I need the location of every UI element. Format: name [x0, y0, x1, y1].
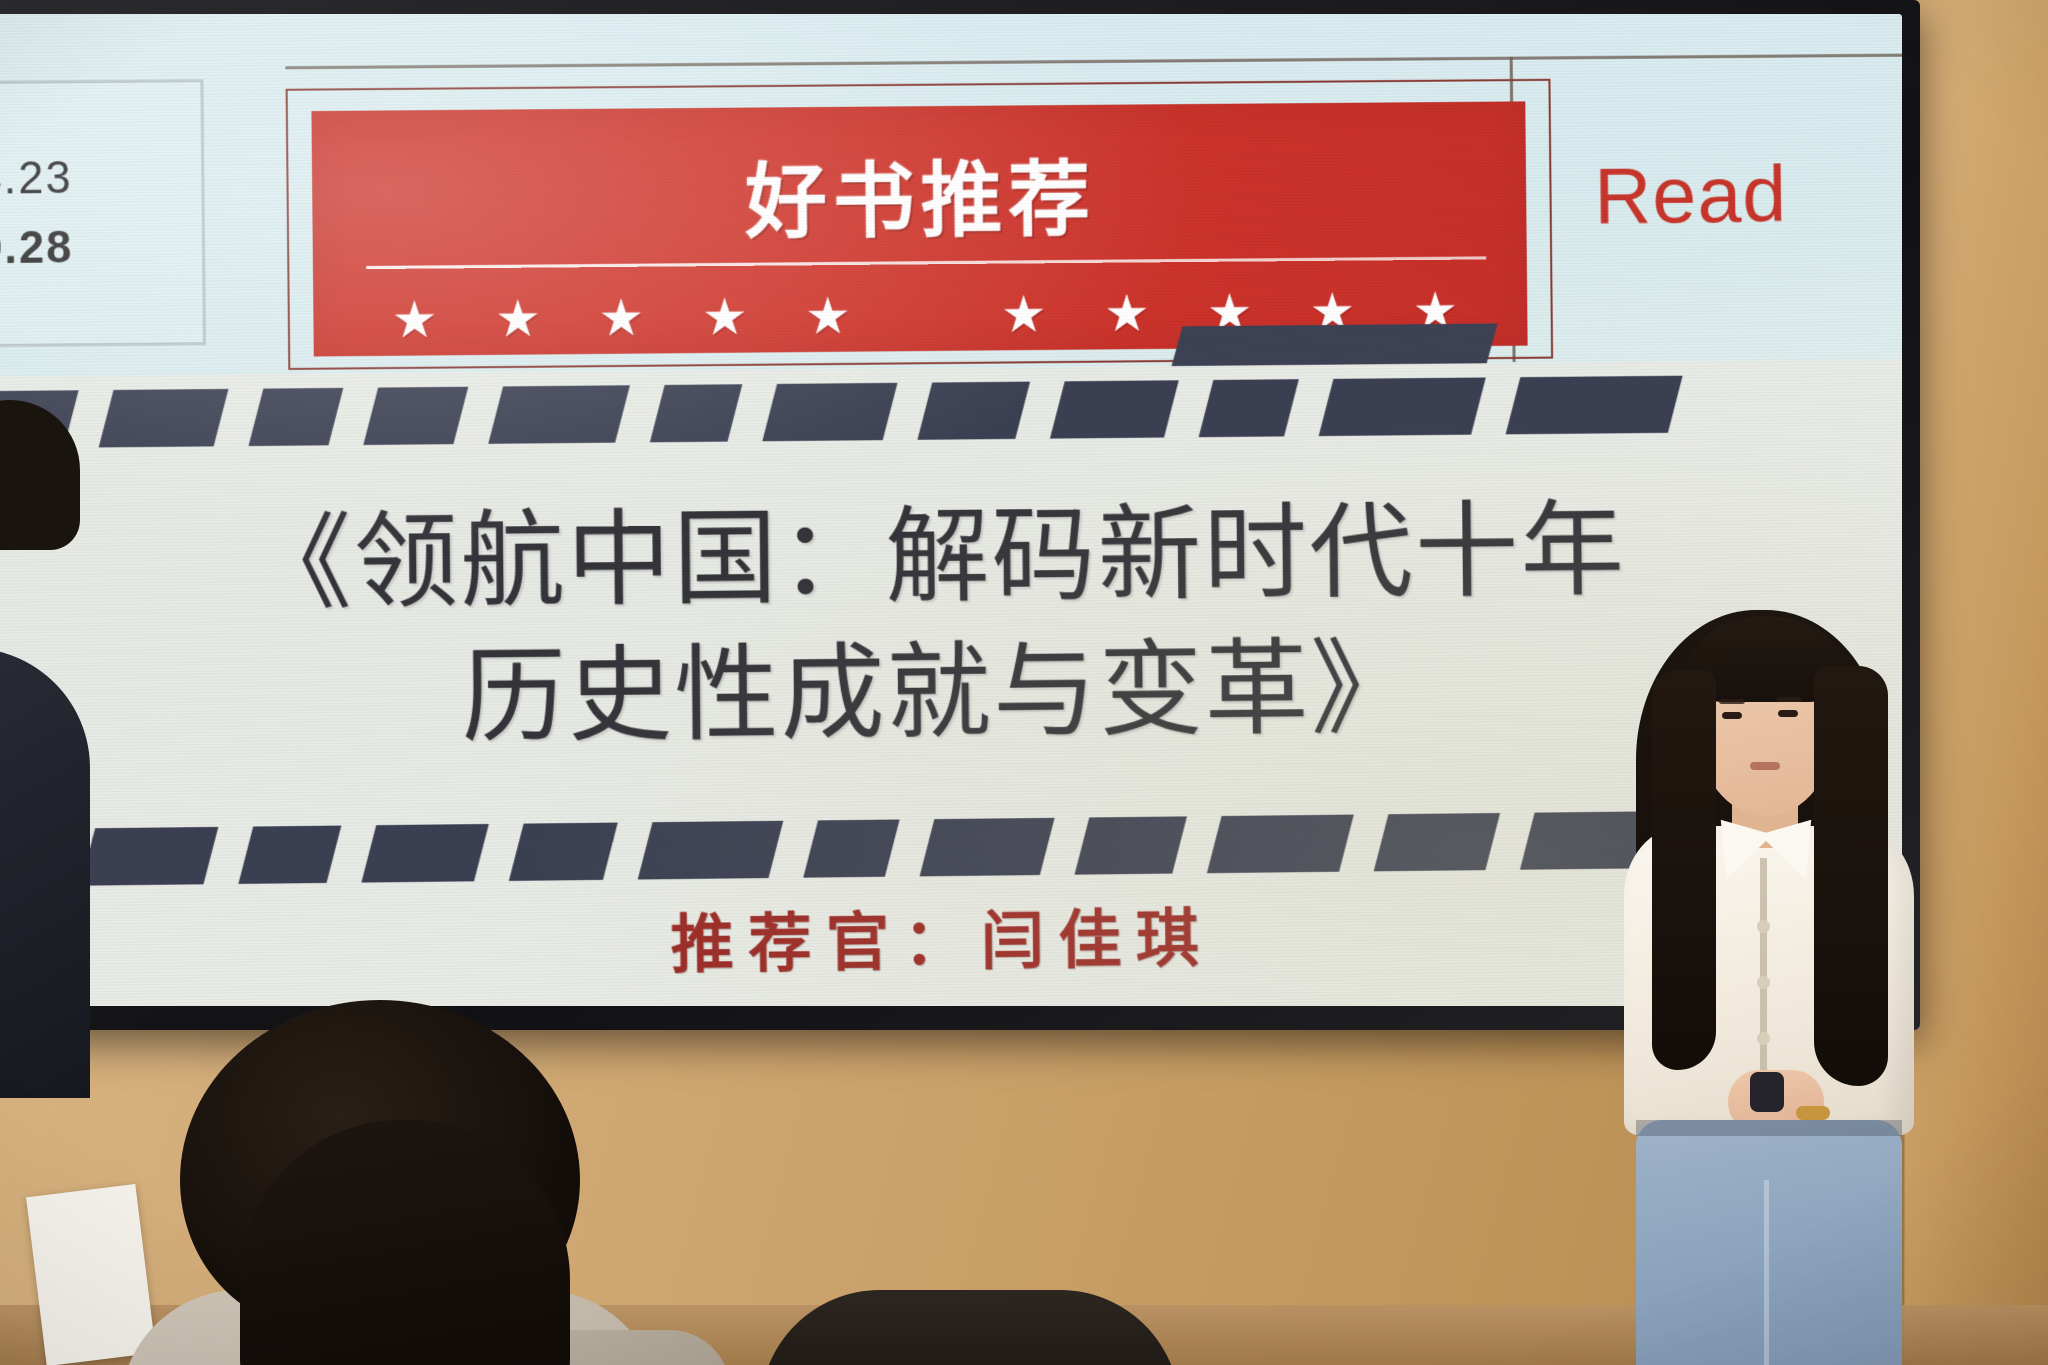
presenter-shirt-button — [1757, 920, 1770, 933]
book-title-line-2: 历史性成就与变革》 — [14, 617, 1859, 771]
clapper-tooth — [650, 384, 742, 442]
clapper-tooth — [1319, 378, 1486, 437]
presenter-mouth — [1750, 762, 1780, 770]
clapper-tooth — [1506, 376, 1683, 435]
presenter-bracelet — [1796, 1106, 1830, 1120]
audience-left-hair — [0, 400, 80, 550]
clapper-strip-top — [0, 374, 1902, 449]
star-icon: ★ — [1075, 288, 1178, 340]
header-accent-bar — [1171, 323, 1497, 367]
clapper-tooth — [238, 826, 341, 884]
clapper-tooth — [363, 387, 468, 445]
red-banner: 好书推荐 ★ ★ ★ ★ ★ ★ ★ ★ ★ — [311, 101, 1527, 356]
clapper-tooth — [1050, 380, 1179, 438]
presenter-clicker — [1750, 1072, 1784, 1112]
star-icon: ★ — [569, 292, 673, 344]
book-title: 《领航中国：解码新时代十年 历史性成就与变革》 — [12, 482, 1859, 771]
clapper-tooth — [638, 821, 784, 880]
clapper-tooth — [361, 824, 488, 883]
banner-underline — [366, 256, 1486, 269]
screenshot-scene: 书日：4.23 书日：9.28 好书推荐 ★ ★ ★ ★ ★ — [0, 0, 2048, 1365]
book-title-line-1: 《领航中国：解码新时代十年 — [12, 482, 1857, 635]
presenter-label: 推荐官： — [670, 904, 981, 982]
presenter-jeans — [1636, 1120, 1902, 1365]
audience-bottom-head — [760, 1290, 1180, 1365]
star-icon: ★ — [466, 293, 570, 345]
audience-person-foreground — [180, 1000, 650, 1365]
clapper-tooth — [762, 383, 897, 441]
read-label: Read — [1594, 148, 1788, 242]
audience-person-left — [0, 400, 170, 1100]
date-line-1: 书日：4.23 — [0, 143, 205, 216]
presenter-jeans-seam — [1764, 1180, 1769, 1365]
audience-left-shoulder — [0, 648, 90, 1098]
presenter-eyebrow — [1719, 699, 1745, 704]
clapper-tooth — [803, 820, 899, 878]
header-rule-horizontal — [285, 54, 1902, 69]
star-icon: ★ — [776, 290, 880, 342]
clapper-tooth — [488, 385, 630, 444]
star-icon: ★ — [362, 294, 466, 346]
standing-presenter — [1600, 620, 1930, 1365]
presenter-eye — [1722, 712, 1742, 719]
clapper-tooth — [1207, 815, 1354, 874]
slide-header: 书日：4.23 书日：9.28 好书推荐 ★ ★ ★ ★ ★ — [0, 14, 1902, 377]
presenter-name: 闫佳琪 — [981, 902, 1214, 979]
clapper-tooth — [917, 382, 1030, 440]
audience-left-paper — [26, 1184, 156, 1365]
banner-title: 好书推荐 — [312, 130, 1527, 258]
presenter-hair-strand — [1652, 670, 1716, 1070]
presenter-shirt-button — [1757, 1032, 1770, 1045]
clapper-tooth — [249, 388, 344, 446]
presenter-waistband — [1636, 1120, 1902, 1136]
presenter-eye — [1778, 710, 1798, 717]
clapper-tooth — [1199, 379, 1299, 437]
header-left-dates: 书日：4.23 书日：9.28 — [0, 143, 205, 286]
star-icon: ★ — [972, 288, 1076, 340]
presenter-shirt-button — [1757, 976, 1770, 989]
clapper-tooth — [509, 823, 618, 881]
star-row-gap — [879, 315, 972, 316]
audience-person-bottom — [760, 1290, 1180, 1365]
clapper-tooth — [1374, 813, 1500, 871]
clapper-tooth — [920, 818, 1055, 877]
presenter-hair-strand — [1814, 666, 1888, 1086]
clapper-tooth — [1075, 816, 1187, 874]
star-icon: ★ — [673, 291, 777, 343]
date-line-2: 书日：9.28 — [0, 212, 205, 285]
presenter-eyebrow — [1776, 697, 1802, 702]
